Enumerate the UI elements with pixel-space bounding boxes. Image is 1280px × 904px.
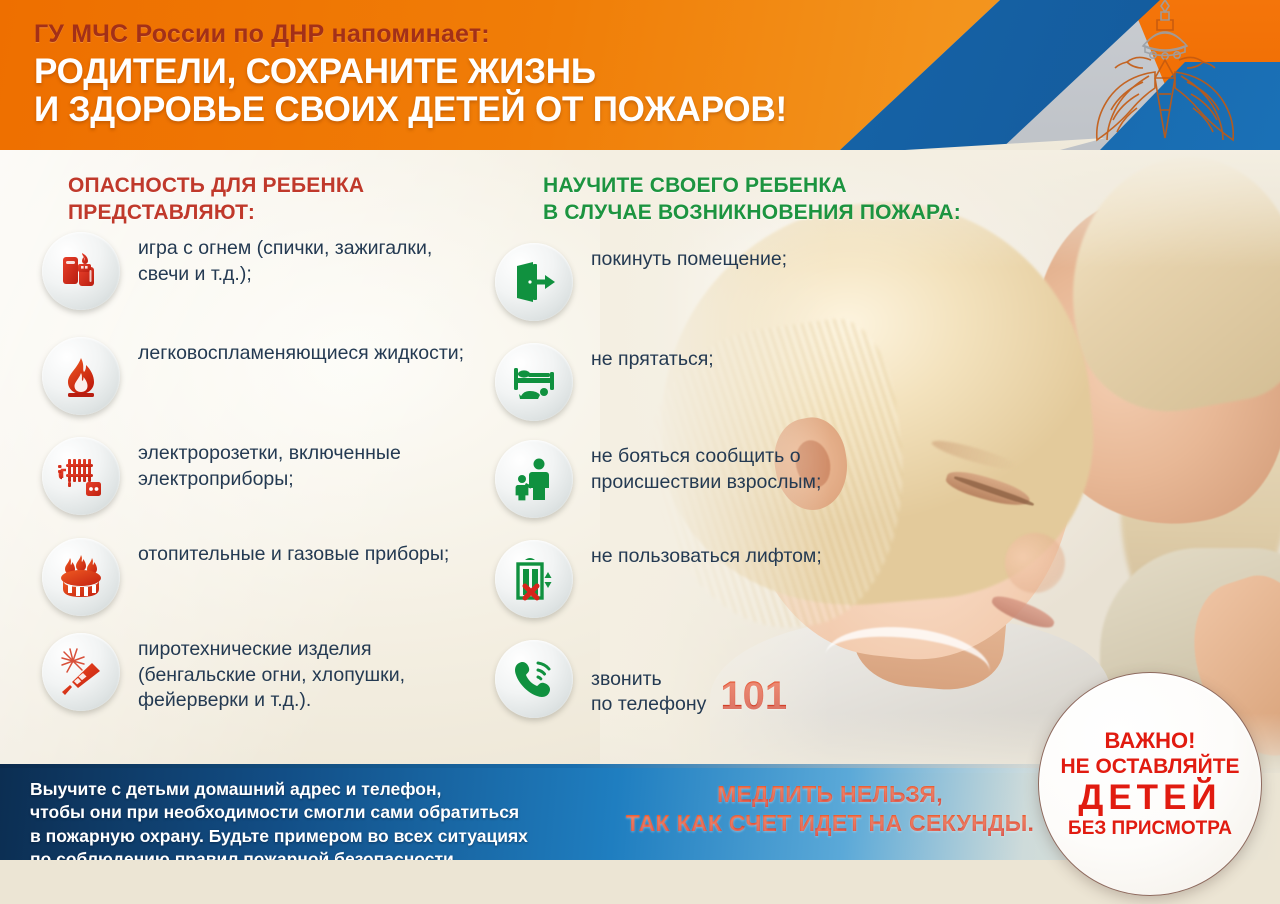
- list-item-label: легковоспламеняющиеся жидкости;: [138, 337, 464, 367]
- poster-header: ГУ МЧС России по ДНР напоминает: РОДИТЕЛ…: [0, 0, 1280, 150]
- badge-line3: ДЕТЕЙ: [1078, 780, 1221, 817]
- exit-door-icon: [495, 243, 573, 321]
- gas-burner-icon: [42, 538, 120, 616]
- list-item-label: не пользоваться лифтом;: [591, 540, 822, 570]
- list-item-label: звонить по телефону: [591, 667, 706, 718]
- left-column-heading: ОПАСНОСТЬ ДЛЯ РЕБЕНКА ПРЕДСТАВЛЯЮТ:: [68, 172, 364, 227]
- list-item-label: электророзетки, включенные электроприбор…: [138, 437, 468, 492]
- urgent-line2: ТАК КАК СЧЕТ ИДЕТ НА СЕКУНДЫ.: [600, 809, 1060, 838]
- list-item: легковоспламеняющиеся жидкости;: [42, 337, 464, 415]
- header-title-line1: РОДИТЕЛИ, СОХРАНИТЕ ЖИЗНЬ: [34, 53, 874, 91]
- header-title-line2: И ЗДОРОВЬЕ СВОИХ ДЕТЕЙ ОТ ПОЖАРОВ!: [34, 91, 874, 129]
- phone-ringing-icon: [495, 640, 573, 718]
- list-item-label: не прятаться;: [591, 343, 714, 373]
- left-heading-line2: ПРЕДСТАВЛЯЮТ:: [68, 199, 364, 226]
- header-subtitle: ГУ МЧС России по ДНР напоминает:: [34, 20, 874, 49]
- urgent-line1: МЕДЛИТЬ НЕЛЬЗЯ,: [600, 780, 1060, 809]
- right-heading-line1: НАУЧИТЕ СВОЕГО РЕБЕНКА: [543, 172, 961, 199]
- fire-safety-poster: ГУ МЧС России по ДНР напоминает: РОДИТЕЛ…: [0, 0, 1280, 904]
- badge-line1: ВАЖНО!: [1105, 729, 1196, 753]
- list-item: звонить по телефону 101: [495, 640, 787, 718]
- hiding-under-bed-icon: [495, 343, 573, 421]
- no-elevator-icon: [495, 540, 573, 618]
- badge-line2: НЕ ОСТАВЛЯЙТЕ: [1060, 755, 1239, 779]
- flame-icon: [42, 337, 120, 415]
- left-heading-line1: ОПАСНОСТЬ ДЛЯ РЕБЕНКА: [68, 172, 364, 199]
- list-item: игра с огнем (спички, зажигалки, свечи и…: [42, 232, 468, 310]
- radiator-socket-icon: [42, 437, 120, 515]
- mchs-double-headed-eagle-emblem: [1085, 0, 1245, 150]
- right-heading-line2: В СЛУЧАЕ ВОЗНИКНОВЕНИЯ ПОЖАРА:: [543, 199, 961, 226]
- urgent-message: МЕДЛИТЬ НЕЛЬЗЯ, ТАК КАК СЧЕТ ИДЕТ НА СЕК…: [600, 780, 1060, 838]
- adult-and-child-icon: [495, 440, 573, 518]
- badge-line4: БЕЗ ПРИСМОТРА: [1068, 819, 1232, 840]
- list-item-label: пиротехнические изделия (бенгальские огн…: [138, 633, 468, 714]
- list-item-label: игра с огнем (спички, зажигалки, свечи и…: [138, 232, 468, 287]
- important-badge: ВАЖНО! НЕ ОСТАВЛЯЙТЕ ДЕТЕЙ БЕЗ ПРИСМОТРА: [1038, 672, 1262, 896]
- list-item: электророзетки, включенные электроприбор…: [42, 437, 468, 515]
- list-item-label: отопительные и газовые приборы;: [138, 538, 449, 568]
- header-text-block: ГУ МЧС России по ДНР напоминает: РОДИТЕЛ…: [34, 20, 874, 129]
- emergency-phone-number: 101: [720, 676, 787, 718]
- list-item: отопительные и газовые приборы;: [42, 538, 449, 616]
- list-item: не бояться сообщить о происшествии взрос…: [495, 440, 891, 518]
- list-item: не пользоваться лифтом;: [495, 540, 822, 618]
- list-item-label: покинуть помещение;: [591, 243, 787, 273]
- list-item: не прятаться;: [495, 343, 714, 421]
- list-item-label: не бояться сообщить о происшествии взрос…: [591, 440, 891, 495]
- lighter-icon: [42, 232, 120, 310]
- right-column-heading: НАУЧИТЕ СВОЕГО РЕБЕНКА В СЛУЧАЕ ВОЗНИКНО…: [543, 172, 961, 227]
- child-nose: [1005, 533, 1065, 593]
- firework-icon: [42, 633, 120, 711]
- footer-text: Выучите с детьми домашний адрес и телефо…: [30, 778, 528, 860]
- list-item: пиротехнические изделия (бенгальские огн…: [42, 633, 468, 714]
- list-item: покинуть помещение;: [495, 243, 787, 321]
